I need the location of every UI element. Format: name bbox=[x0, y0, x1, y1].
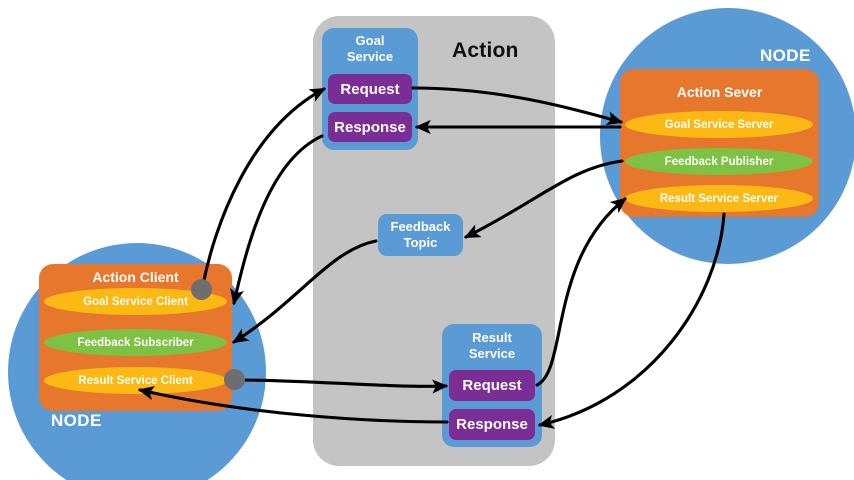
goal-service-client-connector-dot bbox=[191, 279, 212, 300]
result-service-client[interactable]: Result Service Client bbox=[44, 367, 227, 394]
result-service-title: Result Service bbox=[442, 330, 542, 362]
feedback-topic-line1: Feedback bbox=[391, 219, 451, 235]
arrow-goal-client-to-request bbox=[202, 89, 324, 290]
feedback-topic-line2: Topic bbox=[404, 235, 438, 251]
result-service-title-line2: Service bbox=[442, 346, 542, 362]
server-node-label: NODE bbox=[760, 46, 811, 66]
client-node-label: NODE bbox=[51, 411, 102, 431]
result-service-title-line1: Result bbox=[442, 330, 542, 346]
goal-service-server[interactable]: Goal Service Server bbox=[625, 111, 813, 138]
goal-service-request[interactable]: Request bbox=[328, 74, 412, 104]
result-service-client-connector-dot bbox=[224, 369, 245, 390]
feedback-subscriber[interactable]: Feedback Subscriber bbox=[44, 329, 227, 356]
goal-service-title: Goal Service bbox=[322, 33, 418, 65]
result-service-response[interactable]: Response bbox=[449, 409, 535, 440]
action-server-title: Action Sever bbox=[620, 84, 819, 100]
feedback-publisher[interactable]: Feedback Publisher bbox=[625, 148, 813, 175]
feedback-topic[interactable]: Feedback Topic bbox=[378, 214, 463, 256]
result-service-server[interactable]: Result Service Server bbox=[625, 185, 813, 212]
goal-service-title-line1: Goal bbox=[322, 33, 418, 49]
arrow-goal-response-to-client bbox=[234, 136, 322, 303]
result-service-request[interactable]: Request bbox=[449, 370, 535, 401]
goal-service-response[interactable]: Response bbox=[328, 112, 412, 142]
action-title: Action bbox=[452, 39, 519, 63]
diagram-canvas: Action Goal Service Request Response Fee… bbox=[0, 0, 854, 480]
goal-service-title-line2: Service bbox=[322, 49, 418, 65]
